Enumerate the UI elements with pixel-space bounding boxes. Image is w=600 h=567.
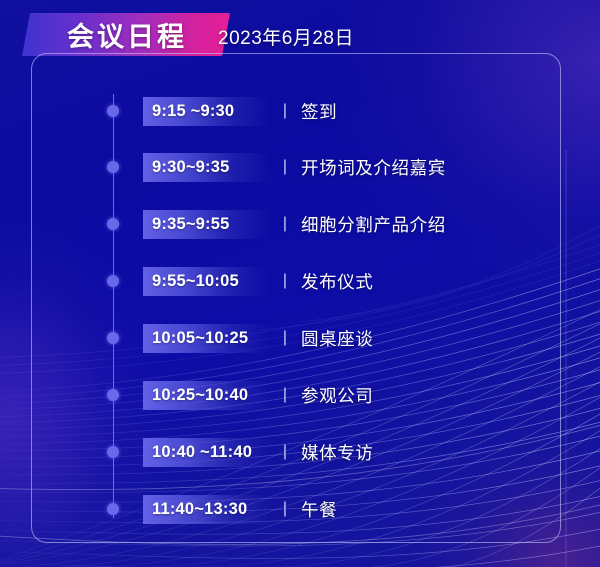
schedule-time: 11:40~13:30 [152,500,247,519]
timeline-dot [107,161,119,173]
conference-agenda-poster: 会议日程 2023年6月28日 9:15 ~9:30 | 签到 9:30~9:3… [0,0,600,567]
schedule-time: 10:40 ~11:40 [152,443,252,462]
row-separator: | [269,443,301,461]
schedule-time: 10:25~10:40 [152,386,248,405]
timeline-dot [107,503,119,515]
agenda-date: 2023年6月28日 [218,23,354,50]
schedule-topic: 媒体专访 [301,440,373,465]
schedule-row: 10:40 ~11:40 | 媒体专访 [143,437,373,467]
schedule-row: 10:25~10:40 | 参观公司 [143,380,373,410]
schedule-row: 9:30~9:35 | 开场词及介绍嘉宾 [143,152,446,182]
row-separator: | [269,329,301,347]
schedule-time: 9:30~9:35 [152,158,229,177]
schedule-time-box: 9:30~9:35 [143,153,269,182]
schedule-time: 10:05~10:25 [152,329,248,348]
schedule-time-box: 10:05~10:25 [143,324,269,353]
agenda-title-banner: 会议日程 [22,13,230,56]
schedule-row: 9:35~9:55 | 细胞分割产品介绍 [143,209,446,239]
schedule-topic: 细胞分割产品介绍 [301,212,446,237]
schedule-row: 9:15 ~9:30 | 签到 [143,96,337,126]
schedule-time-box: 10:40 ~11:40 [143,438,269,467]
schedule-topic: 开场词及介绍嘉宾 [301,155,446,180]
schedule-time-box: 9:35~9:55 [143,210,269,239]
schedule-time-box: 11:40~13:30 [143,495,269,524]
schedule-time: 9:15 ~9:30 [152,102,234,121]
schedule-topic: 发布仪式 [301,269,373,294]
row-separator: | [269,386,301,404]
row-separator: | [269,158,301,176]
schedule-time-box: 9:55~10:05 [143,267,269,296]
page-title: 会议日程 [65,15,187,54]
timeline-dot [107,105,119,117]
row-separator: | [269,102,301,120]
schedule-time-box: 10:25~10:40 [143,381,269,410]
schedule-row: 11:40~13:30 | 午餐 [143,494,337,524]
content-frame-border [31,53,561,543]
timeline-dot [107,275,119,287]
schedule-topic: 午餐 [301,497,337,522]
schedule-time-box: 9:15 ~9:30 [143,97,269,126]
schedule-row: 10:05~10:25 | 圆桌座谈 [143,323,373,353]
schedule-time: 9:35~9:55 [152,215,229,234]
schedule-row: 9:55~10:05 | 发布仪式 [143,266,373,296]
schedule-topic: 签到 [301,99,337,124]
timeline-dot [107,389,119,401]
schedule-topic: 参观公司 [301,383,373,408]
row-separator: | [269,500,301,518]
timeline-dot [107,446,119,458]
row-separator: | [269,272,301,290]
schedule-time: 9:55~10:05 [152,272,239,291]
timeline-dot [107,218,119,230]
schedule-topic: 圆桌座谈 [301,326,373,351]
row-separator: | [269,215,301,233]
timeline-dot [107,332,119,344]
